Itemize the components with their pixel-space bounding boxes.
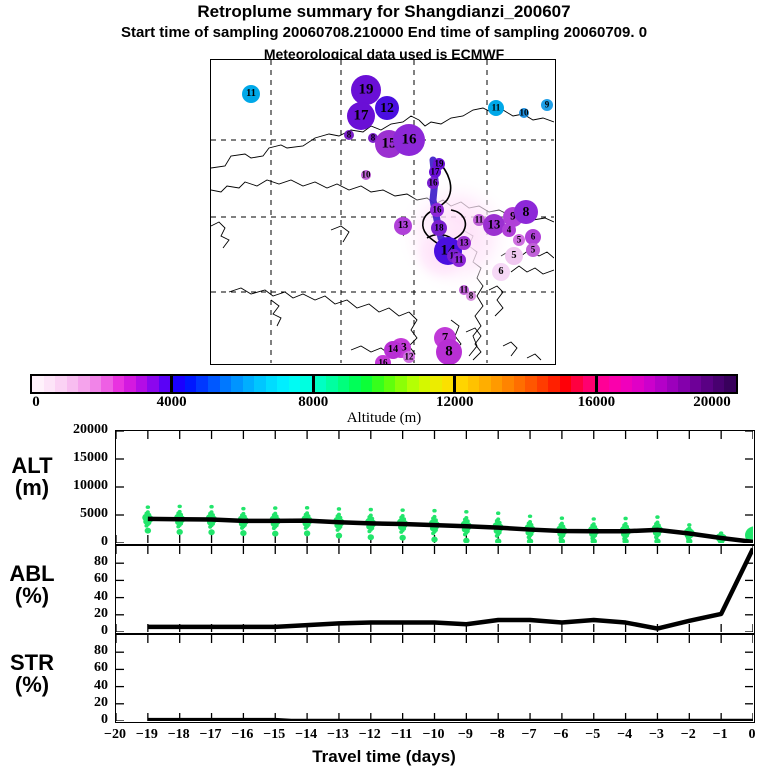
map-marker-label: 13	[488, 219, 501, 232]
map-marker-label: 16	[402, 133, 417, 148]
colorbar-swatch	[430, 376, 442, 392]
colorbar-swatch	[560, 376, 572, 392]
y-tick-label: 0	[40, 534, 108, 550]
x-tick-label: −7	[522, 727, 537, 743]
x-tick-label: −18	[168, 727, 190, 743]
colorbar-swatch	[419, 376, 431, 392]
x-tick-label: −8	[490, 727, 505, 743]
abl-line	[148, 549, 753, 629]
page-title: Retroplume summary for Shangdianzi_20060…	[0, 2, 768, 22]
map-marker-label: 5	[517, 236, 522, 245]
map-marker-label: 5	[511, 251, 516, 261]
colorbar-swatch	[598, 376, 610, 392]
y-tick-label: 20000	[40, 422, 108, 438]
colorbar-swatch	[208, 376, 220, 392]
colorbar-swatch	[548, 376, 560, 392]
colorbar-swatch	[55, 376, 67, 392]
alt-mean-line	[148, 519, 753, 542]
x-tick-label: −16	[231, 727, 253, 743]
colorbar-swatch	[491, 376, 503, 392]
x-tick-label: −5	[585, 727, 600, 743]
map-marker-label: 16	[378, 358, 387, 365]
colorbar-swatch	[185, 376, 197, 392]
map-marker-label: 17	[431, 168, 440, 177]
map-marker-label: 4	[507, 226, 512, 235]
sampling-time-subtitle: Start time of sampling 20060708.210000 E…	[0, 24, 768, 41]
panel-label-line2: (m)	[2, 477, 62, 499]
colorbar-swatch	[571, 376, 583, 392]
colorbar-swatch	[254, 376, 266, 392]
colorbar-swatch	[667, 376, 679, 392]
colorbar-swatch	[678, 376, 690, 392]
x-tick-label: −17	[200, 727, 222, 743]
colorbar-swatch	[300, 376, 312, 392]
x-tick-label: −3	[649, 727, 664, 743]
map-marker-label: 8	[445, 345, 452, 360]
colorbar-swatch	[220, 376, 232, 392]
y-tick-label: 0	[40, 623, 108, 639]
panel-label-str: STR(%)	[2, 652, 62, 696]
colorbar-tick-label: 8000	[298, 394, 328, 411]
colorbar-swatch	[101, 376, 113, 392]
colorbar-tick-label: 16000	[578, 394, 616, 411]
panel-alt[interactable]	[115, 430, 755, 545]
x-tick-label: −11	[391, 727, 412, 743]
colorbar-swatch	[724, 376, 736, 392]
map-marker-label: 9	[545, 101, 550, 110]
panel-str[interactable]	[115, 634, 755, 723]
timeseries-panels	[115, 430, 755, 723]
y-tick-label: 5000	[40, 506, 108, 522]
y-tick-label: 20	[40, 695, 108, 711]
colorbar-tick-label: 0	[32, 394, 40, 411]
map-marker-label: 10	[362, 171, 371, 180]
colorbar-title: Altitude (m)	[0, 410, 768, 427]
str-plot-area	[116, 635, 753, 721]
colorbar-swatch	[690, 376, 702, 392]
str-line	[148, 720, 753, 721]
map-marker-label: 10	[520, 109, 529, 118]
abl-plot-area	[116, 546, 753, 632]
map-marker-label: 13	[398, 221, 408, 231]
colorbar-swatch	[113, 376, 125, 392]
colorbar-swatch	[468, 376, 480, 392]
colorbar-swatch	[124, 376, 136, 392]
x-tick-label: 0	[749, 727, 756, 743]
map-marker-label: 18	[434, 223, 443, 232]
map-marker-label: 6	[498, 267, 503, 277]
colorbar-swatch	[407, 376, 419, 392]
colorbar-swatch	[338, 376, 350, 392]
x-tick-label: −19	[136, 727, 158, 743]
altitude-colorbar[interactable]	[30, 374, 738, 394]
colorbar-swatch	[361, 376, 373, 392]
colorbar-swatch	[67, 376, 79, 392]
colorbar-swatch	[442, 376, 454, 392]
colorbar-swatch	[479, 376, 491, 392]
map-marker-label: 11	[475, 216, 484, 225]
map-marker-label: 19	[359, 83, 374, 98]
panel-label-line1: STR	[2, 652, 62, 674]
map-marker-label: 13	[460, 239, 469, 248]
x-tick-label: −4	[617, 727, 632, 743]
colorbar-swatch	[609, 376, 621, 392]
colorbar-swatch	[384, 376, 396, 392]
x-tick-label: −12	[359, 727, 381, 743]
colorbar-swatch	[502, 376, 514, 392]
colorbar-swatch	[159, 376, 171, 392]
y-tick-label: 0	[40, 712, 108, 728]
colorbar-swatch	[632, 376, 644, 392]
colorbar-swatch	[315, 376, 327, 392]
panel-label-abl: ABL(%)	[2, 563, 62, 607]
panel-label-line1: ABL	[2, 563, 62, 585]
panel-label-line2: (%)	[2, 674, 62, 696]
colorbar-swatch	[243, 376, 255, 392]
colorbar-swatch	[372, 376, 384, 392]
x-tick-label: −15	[263, 727, 285, 743]
colorbar-swatch	[289, 376, 301, 392]
x-tick-label: −13	[327, 727, 349, 743]
colorbar-swatch	[173, 376, 185, 392]
retroplume-map[interactable]: 1119121788151610111091917161316181411139…	[210, 59, 556, 365]
colorbar-swatch	[147, 376, 159, 392]
map-marker-label: 8	[347, 131, 352, 140]
y-tick-label: 20	[40, 606, 108, 622]
colorbar-swatch	[136, 376, 148, 392]
map-marker-label: 16	[433, 206, 442, 215]
x-tick-label: −6	[553, 727, 568, 743]
map-marker-label: 8	[523, 205, 530, 219]
panel-label-line1: ALT	[2, 455, 62, 477]
colorbar-swatch	[583, 376, 595, 392]
colorbar-swatch	[655, 376, 667, 392]
colorbar-tick-label: 4000	[157, 394, 187, 411]
map-marker-label: 5	[531, 246, 536, 255]
colorbar-swatch	[621, 376, 633, 392]
x-tick-label: −20	[104, 727, 126, 743]
x-tick-label: −2	[681, 727, 696, 743]
panel-label-line2: (%)	[2, 585, 62, 607]
map-marker-label: 16	[429, 179, 438, 188]
map-marker-label: 17	[354, 109, 369, 124]
x-axis-title: Travel time (days)	[0, 747, 768, 767]
x-tick-label: −1	[713, 727, 728, 743]
colorbar-swatch	[514, 376, 526, 392]
colorbar-swatch	[231, 376, 243, 392]
colorbar-swatch	[32, 376, 44, 392]
x-tick-label: −10	[423, 727, 445, 743]
map-marker-label: 11	[246, 89, 256, 99]
colorbar-swatch	[525, 376, 537, 392]
map-marker-label: 14	[388, 345, 398, 355]
colorbar-tick-label: 20000	[693, 394, 731, 411]
colorbar-swatch	[266, 376, 278, 392]
colorbar-swatch	[196, 376, 208, 392]
map-marker-label: 12	[405, 353, 414, 362]
colorbar-swatch	[701, 376, 713, 392]
map-marker-label: 6	[531, 232, 536, 241]
x-tick-label: −9	[458, 727, 473, 743]
colorbar-swatch	[78, 376, 90, 392]
colorbar-swatch	[44, 376, 56, 392]
colorbar-swatch	[644, 376, 656, 392]
colorbar-swatch	[90, 376, 102, 392]
colorbar-swatch	[456, 376, 468, 392]
map-marker-label: 8	[469, 292, 474, 301]
colorbar-swatch	[395, 376, 407, 392]
map-marker-label: 11	[492, 103, 501, 112]
colorbar-swatch	[713, 376, 725, 392]
map-marker-label: 11	[455, 256, 464, 265]
colorbar-swatch	[349, 376, 361, 392]
colorbar-swatch	[277, 376, 289, 392]
panel-abl[interactable]	[115, 545, 755, 634]
map-marker-label: 12	[380, 101, 394, 115]
colorbar-swatch	[326, 376, 338, 392]
alt-plot-area	[116, 431, 753, 543]
panel-label-alt: ALT(m)	[2, 455, 62, 499]
colorbar-tick-label: 12000	[436, 394, 474, 411]
x-tick-label: −14	[295, 727, 317, 743]
colorbar-swatch	[537, 376, 549, 392]
